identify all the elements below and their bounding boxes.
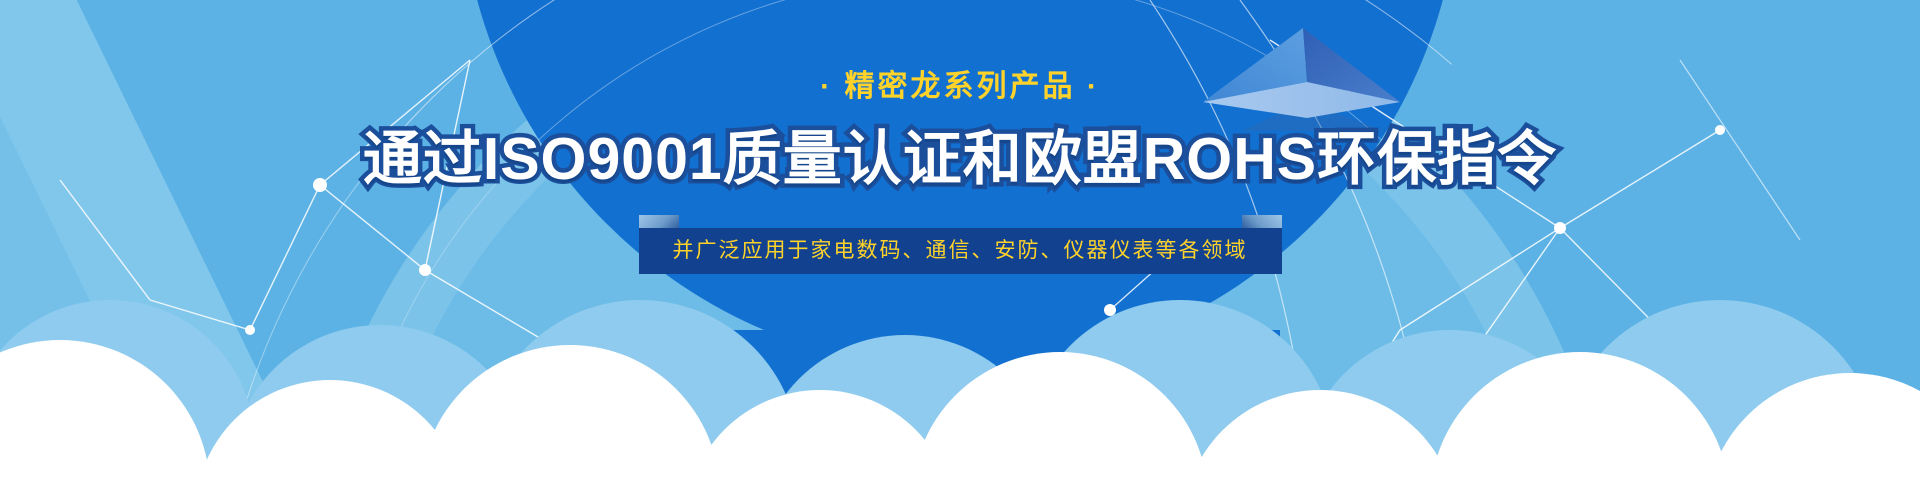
banner-eyebrow: · 精密龙系列产品 · <box>820 72 1100 102</box>
ribbon-body: 并广泛应用于家电数码、通信、安防、仪器仪表等各领域 <box>639 228 1282 274</box>
banner-ribbon: 并广泛应用于家电数码、通信、安防、仪器仪表等各领域 <box>639 228 1282 274</box>
ribbon-label: 并广泛应用于家电数码、通信、安防、仪器仪表等各领域 <box>673 240 1248 261</box>
ribbon-tab-right <box>1242 215 1282 228</box>
ribbon-tab-left <box>639 215 679 228</box>
banner-headline: 通过ISO9001质量认证和欧盟ROHS环保指令 <box>363 128 1557 192</box>
promo-banner: · 精密龙系列产品 · 通过ISO9001质量认证和欧盟ROHS环保指令 并广泛… <box>0 0 1920 480</box>
banner-content: · 精密龙系列产品 · 通过ISO9001质量认证和欧盟ROHS环保指令 并广泛… <box>0 0 1920 480</box>
